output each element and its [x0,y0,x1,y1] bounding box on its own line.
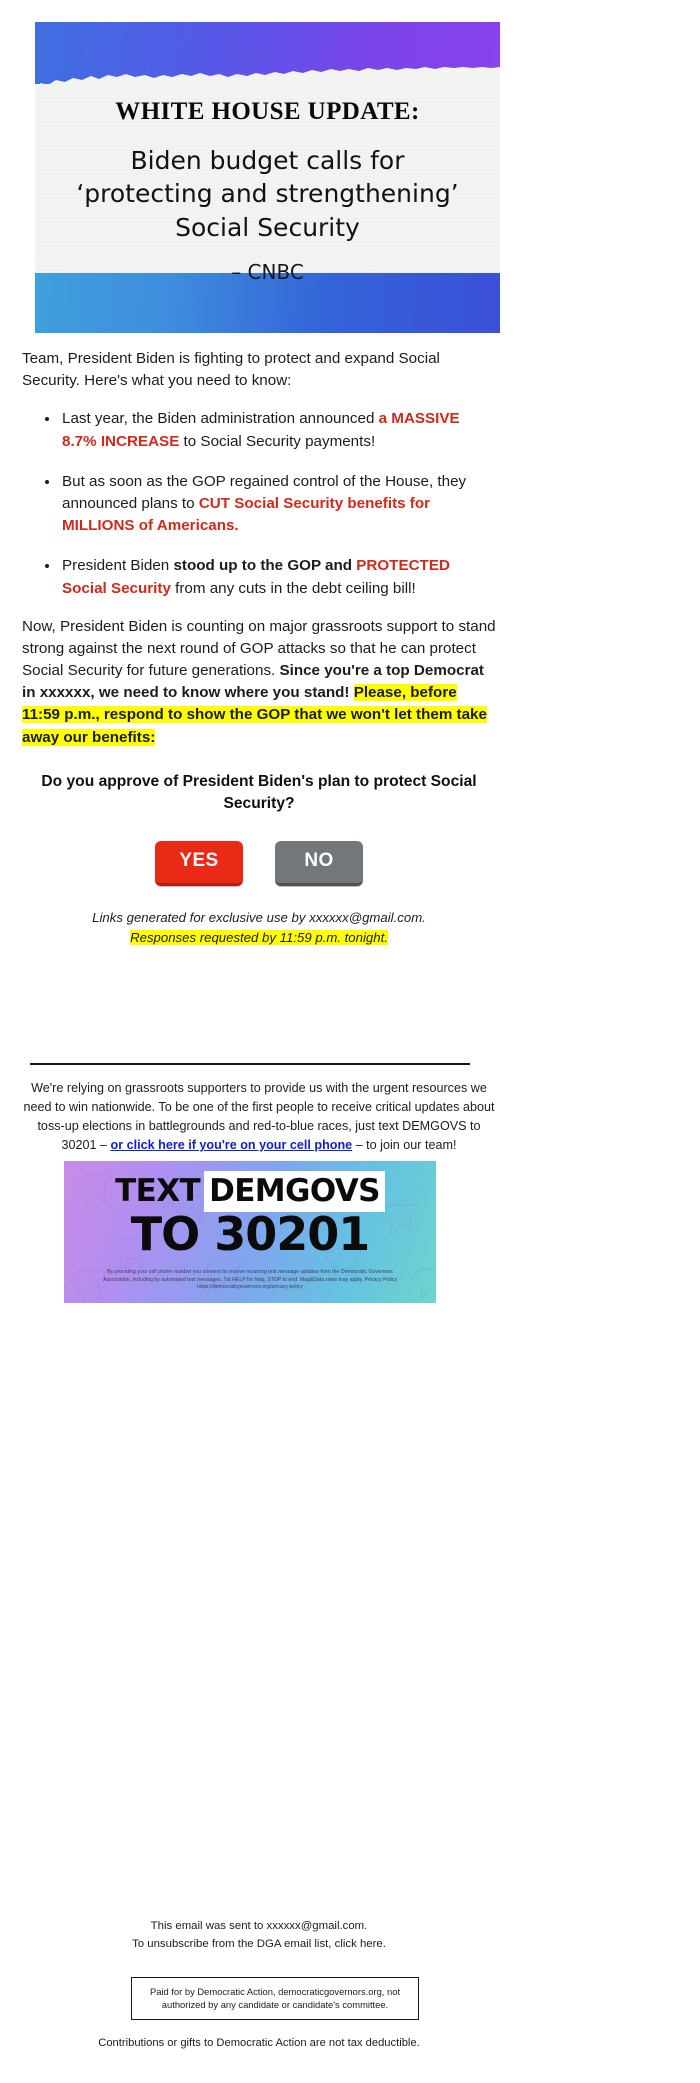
hero-headline-line-1: Biden budget calls for [55,144,480,177]
fineprint-line-1: Links generated for exclusive use by xxx… [22,908,496,928]
key-points-list: Last year, the Biden administration anno… [22,408,496,599]
cell-phone-signup-link[interactable]: or click here if you're on your cell pho… [111,1138,353,1152]
dga-appeal-paragraph: We're relying on grassroots supporters t… [22,1079,496,1156]
survey-question: Do you approve of President Biden's plan… [22,771,496,815]
footer-sent-to: This email was sent to xxxxxx@gmail.com. [22,1918,496,1936]
intro-paragraph: Team, President Biden is fighting to pro… [22,348,496,392]
demgovs-word-keyword: DEMGOVS [204,1171,385,1212]
list-item: President Biden stood up to the GOP and … [60,555,496,599]
hero-headline-line-3: Social Security [55,211,480,244]
dga-paragraph-part-2: – to join our team! [352,1138,456,1152]
fineprint-line-2: Responses requested by 11:59 p.m. tonigh… [22,928,496,948]
no-button[interactable]: NO [275,841,363,886]
hero-headline: Biden budget calls for ‘protecting and s… [35,144,500,244]
demgovs-headline-line-2: TO 30201 [131,1211,370,1257]
list-item: But as soon as the GOP regained control … [60,471,496,538]
bullet-3-post: from any cuts in the debt ceiling bill! [171,580,416,597]
torn-paper-edge-top-icon [35,66,500,92]
links-fineprint: Links generated for exclusive use by xxx… [22,908,496,948]
hero-headline-line-2: ‘protecting and strengthening’ [55,177,480,210]
footer-unsubscribe[interactable]: To unsubscribe from the DGA email list, … [22,1936,496,1954]
hero-kicker: WHITE HOUSE UPDATE: [35,98,500,126]
bullet-1-pre: Last year, the Biden administration anno… [62,410,379,427]
survey-button-row: YESNO [22,841,496,886]
demgovs-headline-line-1: TEXTDEMGOVS [115,1176,385,1207]
hero-source-attribution: – CNBC [35,260,500,284]
yes-button[interactable]: YES [155,841,243,886]
demgovs-banner[interactable]: TEXTDEMGOVS TO 30201 By providing your c… [64,1161,436,1303]
email-body: Team, President Biden is fighting to pro… [22,348,496,948]
fineprint-highlight: Responses requested by 11:59 p.m. tonigh… [130,930,388,945]
hero-text-block: WHITE HOUSE UPDATE: Biden budget calls f… [35,98,500,284]
demgovs-sms-disclaimer: By providing your cell phone number you … [100,1269,400,1292]
demgovs-word-text: TEXT [115,1173,200,1209]
demgovs-banner-content: TEXTDEMGOVS TO 30201 By providing your c… [64,1161,436,1303]
section-divider [30,1063,470,1065]
closing-paragraph: Now, President Biden is counting on majo… [22,616,496,749]
footer-sent-block: This email was sent to xxxxxx@gmail.com.… [22,1918,496,1953]
paid-for-disclaimer-box: Paid for by Democratic Action, democrati… [131,1977,419,2020]
bullet-3-bold-black: stood up to the GOP and [173,557,356,574]
tax-deductible-notice: Contributions or gifts to Democratic Act… [22,2037,496,2049]
hero-banner: WHITE HOUSE UPDATE: Biden budget calls f… [35,22,500,333]
bullet-1-post: to Social Security payments! [179,433,375,450]
bullet-3-pre: President Biden [62,557,173,574]
list-item: Last year, the Biden administration anno… [60,408,496,452]
